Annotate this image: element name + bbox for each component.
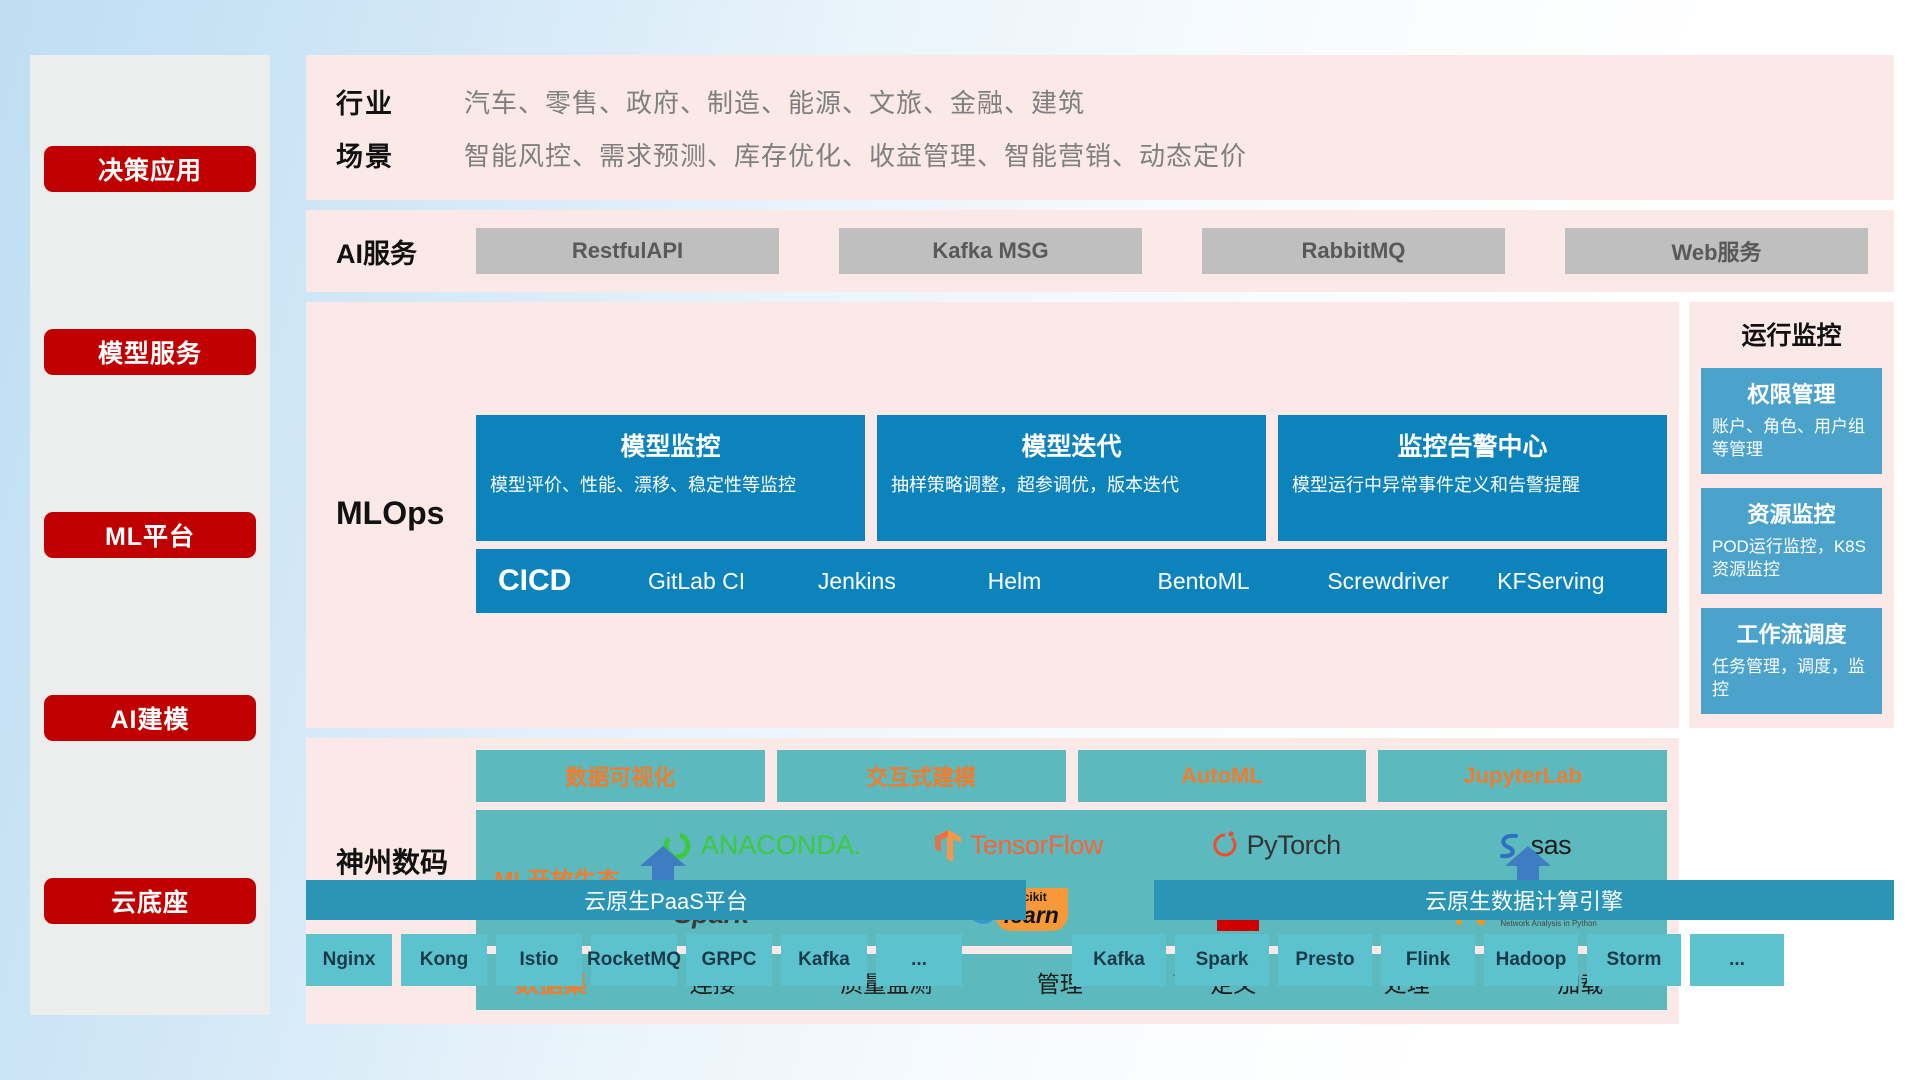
chip-label: Web服务 <box>1671 235 1761 267</box>
cicd-item-kfserving[interactable]: KFServing <box>1497 569 1667 593</box>
card-title: 模型监控 <box>490 427 851 463</box>
pytorch-wordmark: PyTorch <box>1247 830 1341 861</box>
ml-lab-label-line1: 神州数码 <box>336 845 476 880</box>
mlops-card-model-iteration[interactable]: 模型迭代 抽样策略调整，超参调优，版本迭代 <box>877 415 1266 541</box>
monitor-card-permission[interactable]: 权限管理 账户、角色、用户组等管理 <box>1701 368 1882 474</box>
engine-chip-kafka[interactable]: Kafka <box>1072 934 1166 986</box>
data-compute-engine-header[interactable]: 云原生数据计算引擎 <box>1154 880 1894 920</box>
anaconda-wordmark: ANACONDA. <box>701 830 862 861</box>
engine-chip-group: Kafka Spark Presto Flink Hadoop Storm ..… <box>1072 934 1784 986</box>
card-title: 工作流调度 <box>1712 617 1871 649</box>
mlops-band: MLOps 模型监控 模型评价、性能、漂移、稳定性等监控 模型迭代 抽样策略调整… <box>306 302 1679 728</box>
paas-chip-kong[interactable]: Kong <box>401 934 487 986</box>
ai-service-band: AI服务 RestfulAPI Kafka MSG RabbitMQ Web服务 <box>306 210 1894 292</box>
cicd-item-gitlab-ci[interactable]: GitLab CI <box>648 569 818 593</box>
cicd-item-jenkins[interactable]: Jenkins <box>818 569 988 593</box>
cicd-item-screwdriver[interactable]: Screwdriver <box>1327 569 1497 593</box>
scenario-row: 场景 智能风控、需求预测、库存优化、收益管理、智能营销、动态定价 <box>336 135 1894 174</box>
card-title: 权限管理 <box>1712 377 1871 409</box>
decision-application-band: 行业 汽车、零售、政府、制造、能源、文旅、金融、建筑 场景 智能风控、需求预测、… <box>306 55 1894 200</box>
paas-platform-header[interactable]: 云原生PaaS平台 <box>306 880 1026 920</box>
sidebar-item-cloud-base[interactable]: 云底座 <box>44 878 256 924</box>
card-title: 监控告警中心 <box>1292 427 1653 463</box>
monitor-card-resource[interactable]: 资源监控 POD运行监控，K8S资源监控 <box>1701 488 1882 594</box>
paas-chip-group: Nginx Kong Istio RocketMQ GRPC Kafka ... <box>306 934 962 986</box>
ai-chip-rabbitmq[interactable]: RabbitMQ <box>1202 228 1505 274</box>
ai-service-label: AI服务 <box>336 232 476 271</box>
sidebar-item-label: 模型服务 <box>98 334 202 370</box>
card-desc: 模型运行中异常事件定义和告警提醒 <box>1292 473 1653 497</box>
chip-label: Kafka MSG <box>932 238 1048 264</box>
engine-chip-storm[interactable]: Storm <box>1587 934 1681 986</box>
engine-chip-hadoop[interactable]: Hadoop <box>1484 934 1578 986</box>
chip-label: RabbitMQ <box>1302 238 1406 264</box>
sidebar-item-ml-platform[interactable]: ML平台 <box>44 512 256 558</box>
cicd-item-helm[interactable]: Helm <box>988 569 1158 593</box>
chip-label: RestfulAPI <box>572 238 683 264</box>
card-desc: POD运行监控，K8S资源监控 <box>1712 536 1871 582</box>
sidebar-item-label: ML平台 <box>105 517 195 553</box>
mlops-card-alert-center[interactable]: 监控告警中心 模型运行中异常事件定义和告警提醒 <box>1278 415 1667 541</box>
industry-values: 汽车、零售、政府、制造、能源、文旅、金融、建筑 <box>464 83 1085 120</box>
paas-chip-kafka[interactable]: Kafka <box>781 934 867 986</box>
mlops-label: MLOps <box>336 495 476 532</box>
paas-chip-grpc[interactable]: GRPC <box>686 934 772 986</box>
card-desc: 抽样策略调整，超参调优，版本迭代 <box>891 473 1252 497</box>
engine-chip-flink[interactable]: Flink <box>1381 934 1475 986</box>
lab-tool-automl[interactable]: AutoML <box>1078 750 1367 802</box>
card-desc: 账户、角色、用户组等管理 <box>1712 416 1871 462</box>
tensorflow-wordmark: TensorFlow <box>970 830 1103 861</box>
ai-chip-kafka-msg[interactable]: Kafka MSG <box>839 228 1142 274</box>
card-desc: 任务管理，调度，监控 <box>1712 656 1871 702</box>
sidebar-item-label: 云底座 <box>111 883 189 919</box>
scenario-label: 场景 <box>336 135 464 174</box>
sidebar-item-ai-modeling[interactable]: AI建模 <box>44 695 256 741</box>
pytorch-logo: PyTorch <box>1147 815 1404 877</box>
industry-label: 行业 <box>336 82 464 121</box>
ai-chip-restful-api[interactable]: RestfulAPI <box>476 228 779 274</box>
sidebar-item-decision-app[interactable]: 决策应用 <box>44 146 256 192</box>
paas-chip-istio[interactable]: Istio <box>496 934 582 986</box>
cicd-title: CICD <box>498 564 648 598</box>
ai-chip-web-service[interactable]: Web服务 <box>1565 228 1868 274</box>
card-desc: 模型评价、性能、漂移、稳定性等监控 <box>490 473 851 497</box>
engine-chip-more[interactable]: ... <box>1690 934 1784 986</box>
layer-sidebar: 决策应用 模型服务 ML平台 AI建模 云底座 <box>30 55 270 1015</box>
paas-chip-rocketmq[interactable]: RocketMQ <box>591 934 677 986</box>
card-title: 模型迭代 <box>891 427 1252 463</box>
engine-chip-spark[interactable]: Spark <box>1175 934 1269 986</box>
cloud-base-section: 云原生PaaS平台 云原生数据计算引擎 Nginx Kong Istio Roc… <box>306 880 1894 986</box>
mlops-card-model-monitoring[interactable]: 模型监控 模型评价、性能、漂移、稳定性等监控 <box>476 415 865 541</box>
paas-chip-more[interactable]: ... <box>876 934 962 986</box>
engine-chip-presto[interactable]: Presto <box>1278 934 1372 986</box>
cicd-item-bentoml[interactable]: BentoML <box>1157 569 1327 593</box>
lab-tool-data-visualization[interactable]: 数据可视化 <box>476 750 765 802</box>
scenario-values: 智能风控、需求预测、库存优化、收益管理、智能营销、动态定价 <box>464 136 1247 173</box>
sidebar-item-label: AI建模 <box>110 700 189 736</box>
sidebar-item-label: 决策应用 <box>98 151 202 187</box>
pytorch-mark-icon <box>1210 829 1240 863</box>
sidebar-item-model-service[interactable]: 模型服务 <box>44 329 256 375</box>
industry-row: 行业 汽车、零售、政府、制造、能源、文旅、金融、建筑 <box>336 82 1894 121</box>
lab-tool-jupyterlab[interactable]: JupyterLab <box>1378 750 1667 802</box>
architecture-main: 行业 汽车、零售、政府、制造、能源、文旅、金融、建筑 场景 智能风控、需求预测、… <box>306 55 1894 1024</box>
tensorflow-mark-icon <box>933 828 963 864</box>
runtime-monitor-rail: 运行监控 权限管理 账户、角色、用户组等管理 资源监控 POD运行监控，K8S资… <box>1689 302 1894 728</box>
paas-chip-nginx[interactable]: Nginx <box>306 934 392 986</box>
tensorflow-logo: TensorFlow <box>889 815 1146 877</box>
cicd-bar: CICD GitLab CI Jenkins Helm BentoML Scre… <box>476 549 1667 613</box>
lab-tool-interactive-modeling[interactable]: 交互式建模 <box>777 750 1066 802</box>
runtime-monitor-title: 运行监控 <box>1701 316 1882 352</box>
card-title: 资源监控 <box>1712 497 1871 529</box>
monitor-card-workflow[interactable]: 工作流调度 任务管理，调度，监控 <box>1701 608 1882 714</box>
